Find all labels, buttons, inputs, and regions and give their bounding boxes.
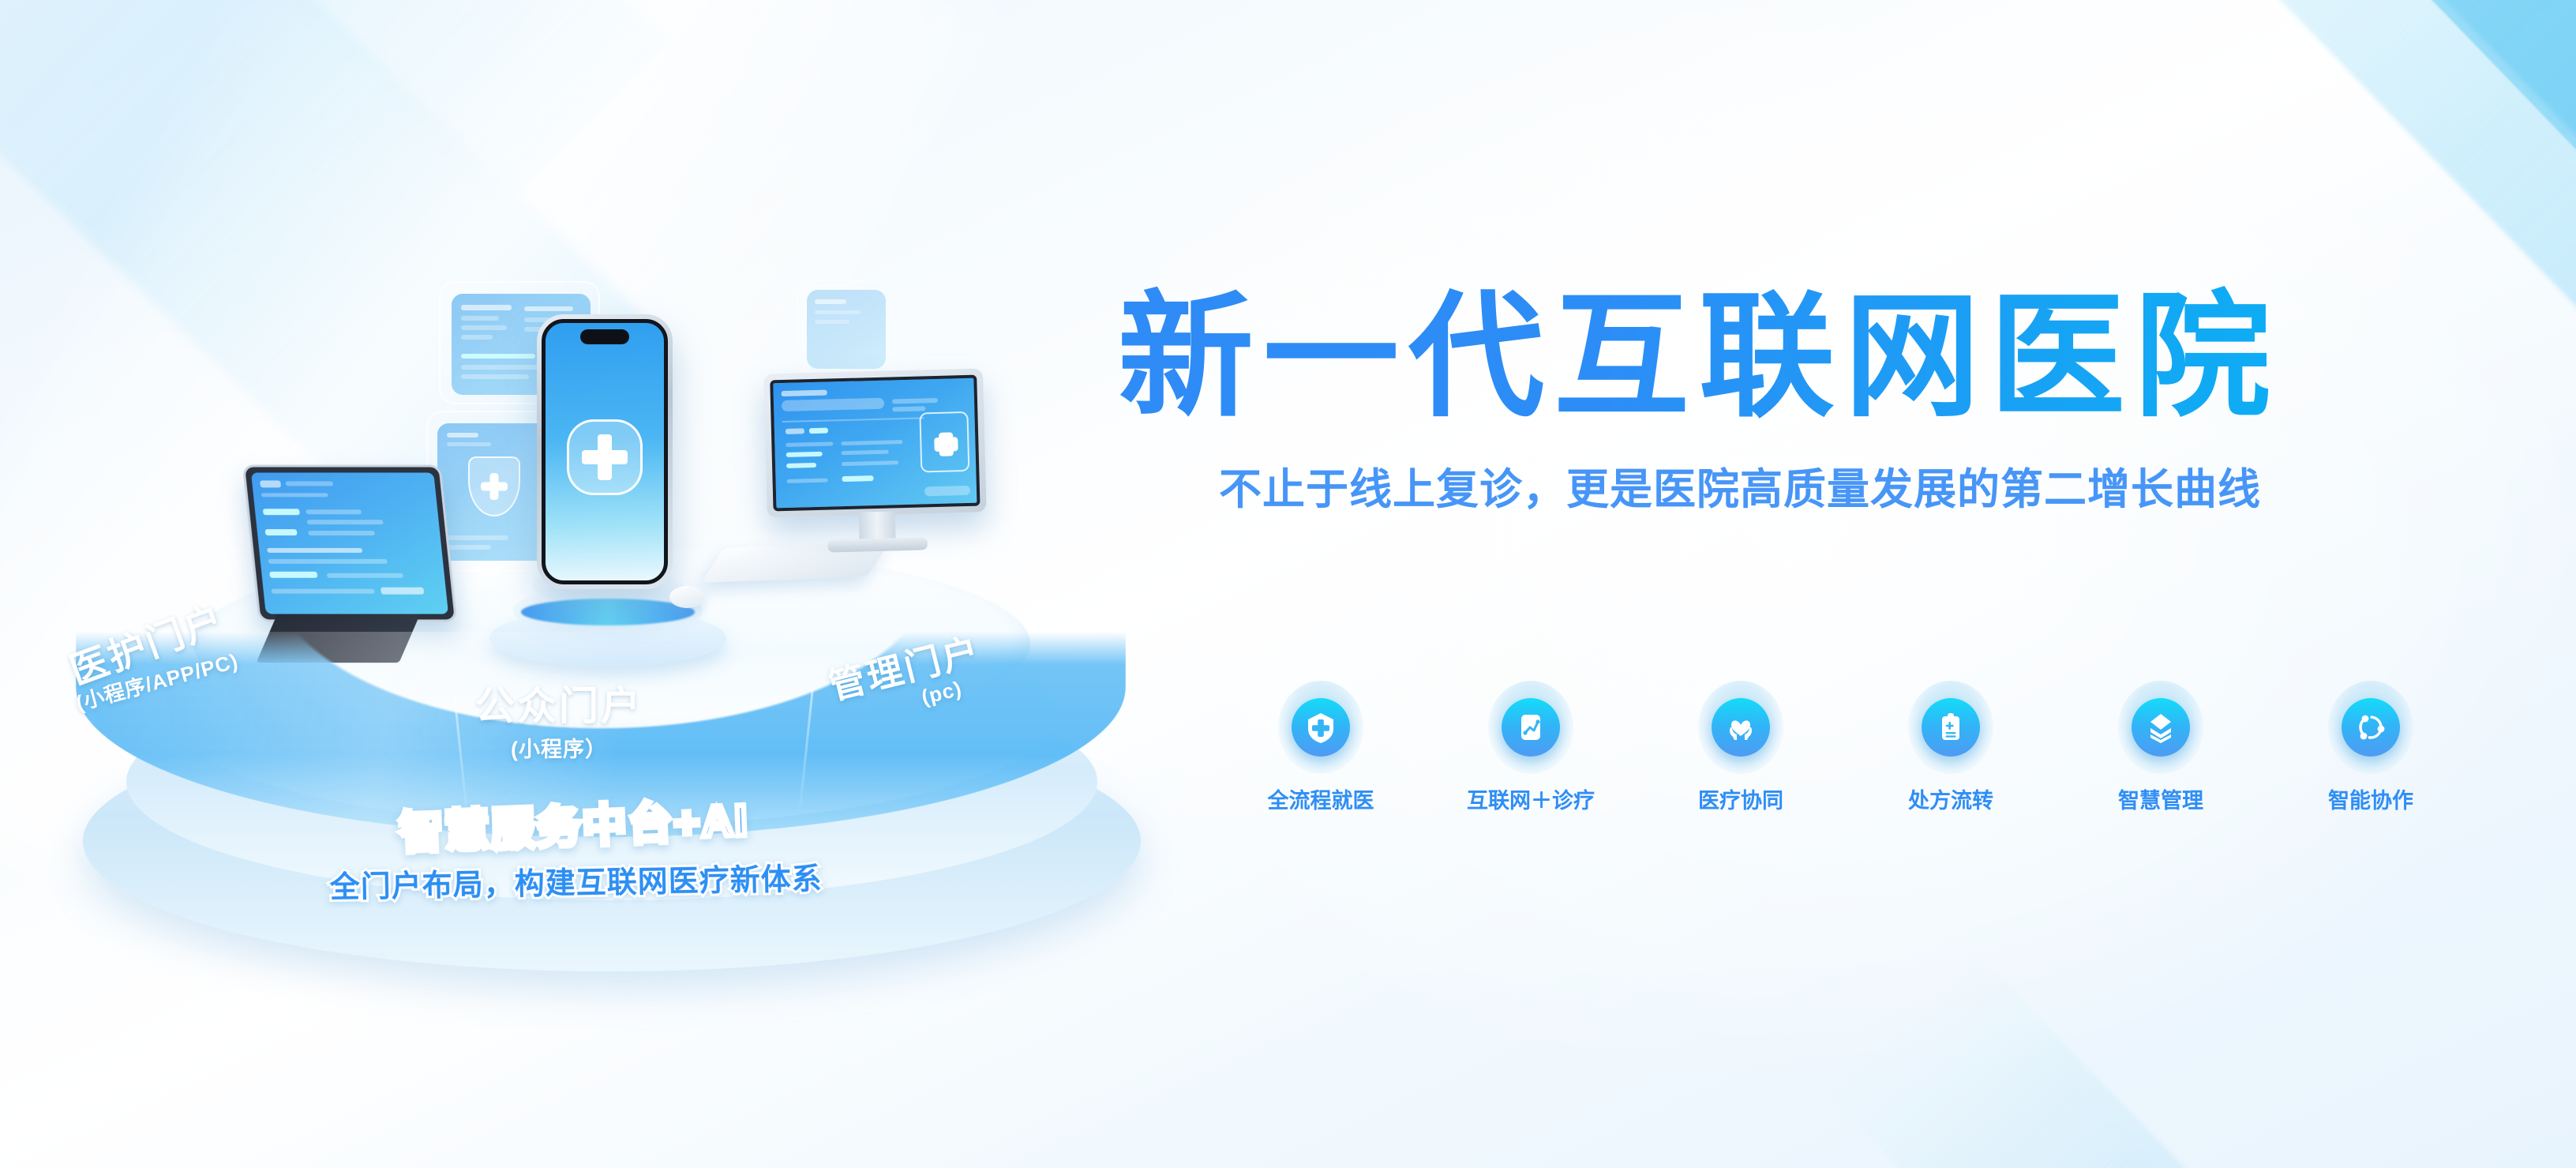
right-haze-overlay (1159, 0, 2576, 1168)
feature-list: 全流程就医 互联网＋诊疗 (1216, 681, 2479, 814)
feature-label: 医疗协同 (1698, 783, 1783, 814)
tablet-device (242, 465, 457, 622)
portal-label-public: 公众门户 (小程序） (475, 685, 643, 763)
monitor-base (828, 537, 928, 552)
feature-icon-halo (1698, 681, 1783, 774)
page-title: 新一代互联网医院 (1118, 281, 2507, 434)
feature-item-smart-management[interactable]: 智慧管理 (2056, 681, 2266, 814)
portal-label-sub: (小程序） (475, 732, 643, 763)
smartphone-device (537, 314, 673, 589)
smartphone-screen (542, 319, 668, 584)
medical-cross-badge-icon (567, 419, 643, 495)
smartphone-body (537, 314, 673, 589)
feature-item-internet-diagnosis[interactable]: 互联网＋诊疗 (1426, 681, 1636, 814)
feature-label: 全流程就医 (1268, 783, 1374, 814)
heart-hands-icon (1712, 698, 1770, 757)
feature-icon-halo (2328, 681, 2413, 774)
monitor-frame (763, 368, 987, 517)
feature-item-full-process-care[interactable]: 全流程就医 (1216, 681, 1426, 814)
floating-small-card-inner (807, 290, 886, 369)
mouse (669, 586, 704, 608)
monitor-screen (770, 375, 980, 512)
clipboard-prescription-icon (1922, 698, 1980, 757)
portal-label-main: 公众门户 (475, 685, 643, 727)
feature-item-medical-collaboration[interactable]: 医疗协同 (1636, 681, 1846, 814)
feature-icon-halo (1278, 681, 1363, 774)
floating-small-card (797, 280, 895, 378)
feature-item-intelligent-cooperation[interactable]: 智能协作 (2266, 681, 2476, 814)
feature-label: 处方流转 (1908, 783, 1993, 814)
diagonal-band-top-right-1 (1787, 0, 2576, 185)
platform-caption: 智慧服务中台+AI 全门户布局，构建互联网医疗新体系 (313, 781, 838, 911)
floating-shield-card-inner (437, 423, 551, 561)
smartphone-notch (580, 329, 629, 344)
stacked-layers-icon (2132, 698, 2190, 757)
network-nodes-icon (2342, 698, 2400, 757)
diagonal-band-bottom-right-1 (1827, 950, 2576, 1168)
product-illustration: 医护门户 (小程序/APP/PC) 公众门户 (小程序） 管理门户 (pc) 智… (0, 0, 1200, 1011)
feature-item-prescription-flow[interactable]: 处方流转 (1846, 681, 2056, 814)
page-subtitle: 不止于线上复诊，更是医院高质量发展的第二增长曲线 (1219, 454, 2507, 516)
feature-label: 互联网＋诊疗 (1467, 783, 1595, 814)
feature-label: 智能协作 (2328, 783, 2413, 814)
chart-line-icon (1502, 698, 1560, 757)
headline-block: 新一代互联网医院 不止于线上复诊，更是医院高质量发展的第二增长曲线 (1118, 281, 2507, 516)
shield-medical-icon (468, 456, 520, 516)
platform-subtitle: 全门户布局，构建互联网医疗新体系 (315, 854, 837, 907)
desktop-monitor (763, 368, 988, 555)
feature-icon-halo (1908, 681, 1993, 774)
diagonal-band-bottom-right-2 (1907, 1084, 2576, 1168)
feature-label: 智慧管理 (2118, 783, 2203, 814)
hero-banner: 医护门户 (小程序/APP/PC) 公众门户 (小程序） 管理门户 (pc) 智… (0, 0, 2576, 1168)
feature-icon-halo (2118, 681, 2203, 774)
tablet-screen (251, 472, 448, 614)
pedestal-glow-ring (521, 599, 695, 625)
feature-icon-halo (1488, 681, 1573, 774)
medical-cross-icon (1292, 698, 1350, 757)
tablet-body (242, 465, 457, 622)
